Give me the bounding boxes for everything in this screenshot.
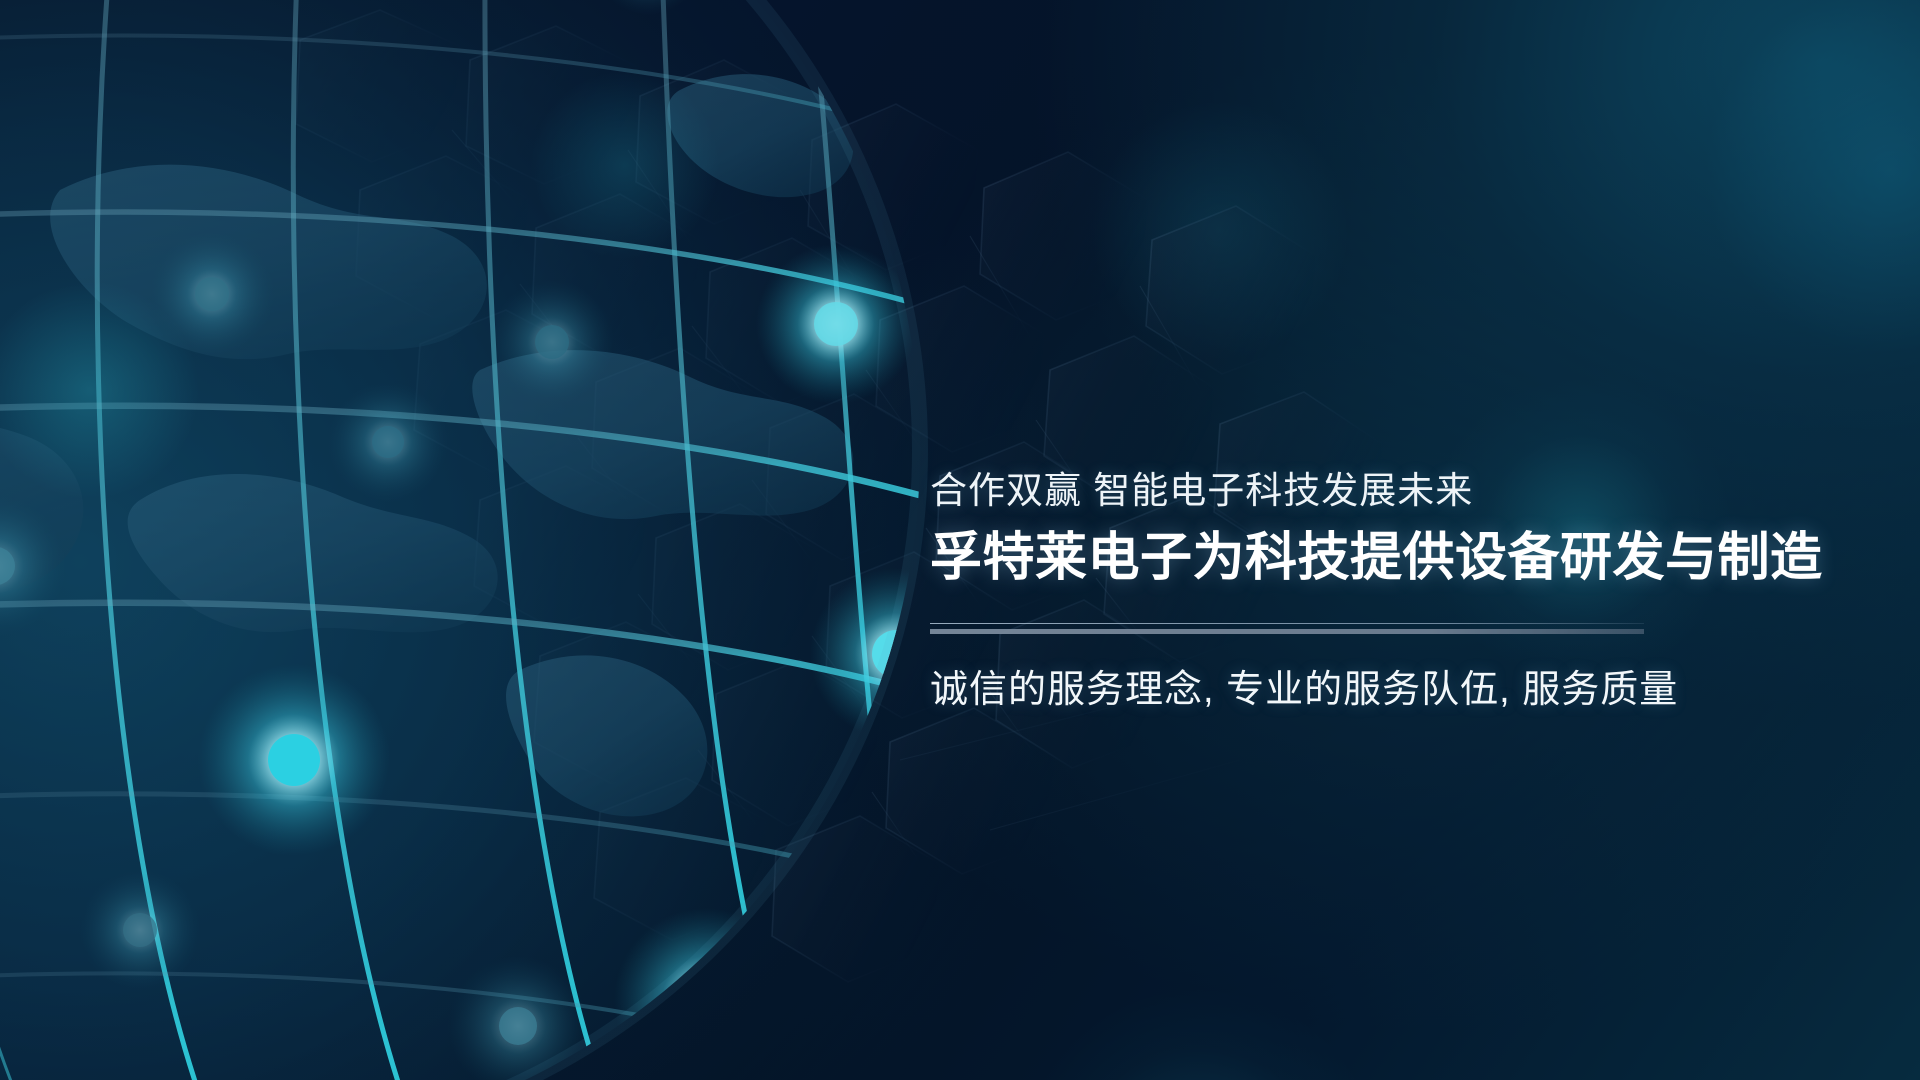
ambient-glow	[530, 70, 720, 260]
wireframe-globe	[0, 0, 1000, 1080]
ambient-glow	[1020, 990, 1380, 1080]
ambient-glow	[1090, 100, 1350, 360]
ambient-glow	[0, 280, 200, 500]
hero-text-block: 合作双赢 智能电子科技发展未来 孚特莱电子为科技提供设备研发与制造 诚信的服务理…	[930, 470, 1870, 714]
network-node	[0, 0, 982, 1080]
divider-thick-bar	[930, 629, 1644, 634]
divider-thin-line	[930, 623, 1644, 624]
hero-headline: 孚特莱电子为科技提供设备研发与制造	[930, 529, 1870, 588]
ambient-glow	[1630, 0, 1920, 430]
hero-eyebrow: 合作双赢 智能电子科技发展未来	[930, 470, 1870, 513]
hero-subtitle: 诚信的服务理念, 专业的服务队伍, 服务质量	[930, 668, 1870, 714]
divider-rule	[930, 623, 1644, 634]
hero-banner: 合作双赢 智能电子科技发展未来 孚特莱电子为科技提供设备研发与制造 诚信的服务理…	[0, 0, 1920, 1080]
